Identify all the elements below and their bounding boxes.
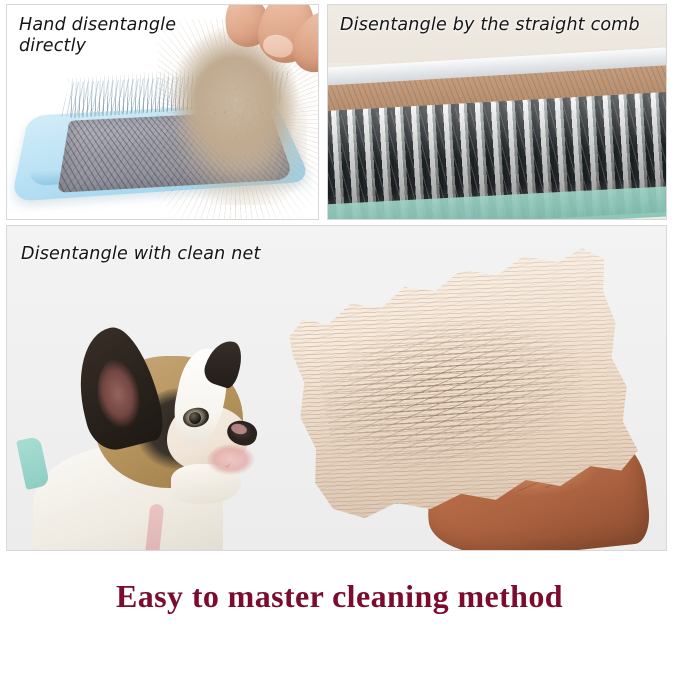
infographic-root: Hand disentangle directly Disentangle by… — [0, 0, 679, 679]
french-bulldog — [31, 322, 281, 551]
dog-lip — [207, 444, 259, 478]
panel-comb-disentangle: Disentangle by the straight comb — [327, 4, 667, 220]
caption-hand-disentangle: Hand disentangle directly — [19, 15, 209, 56]
panel-net-disentangle: Disentangle with clean net — [6, 225, 667, 551]
panel-hand-disentangle: Hand disentangle directly — [6, 4, 319, 220]
caption-net-disentangle: Disentangle with clean net — [21, 244, 361, 265]
caption-comb-disentangle: Disentangle by the straight comb — [340, 15, 667, 36]
headline-text: Easy to master cleaning method — [0, 578, 679, 615]
dog-eye-pupil — [189, 412, 201, 424]
